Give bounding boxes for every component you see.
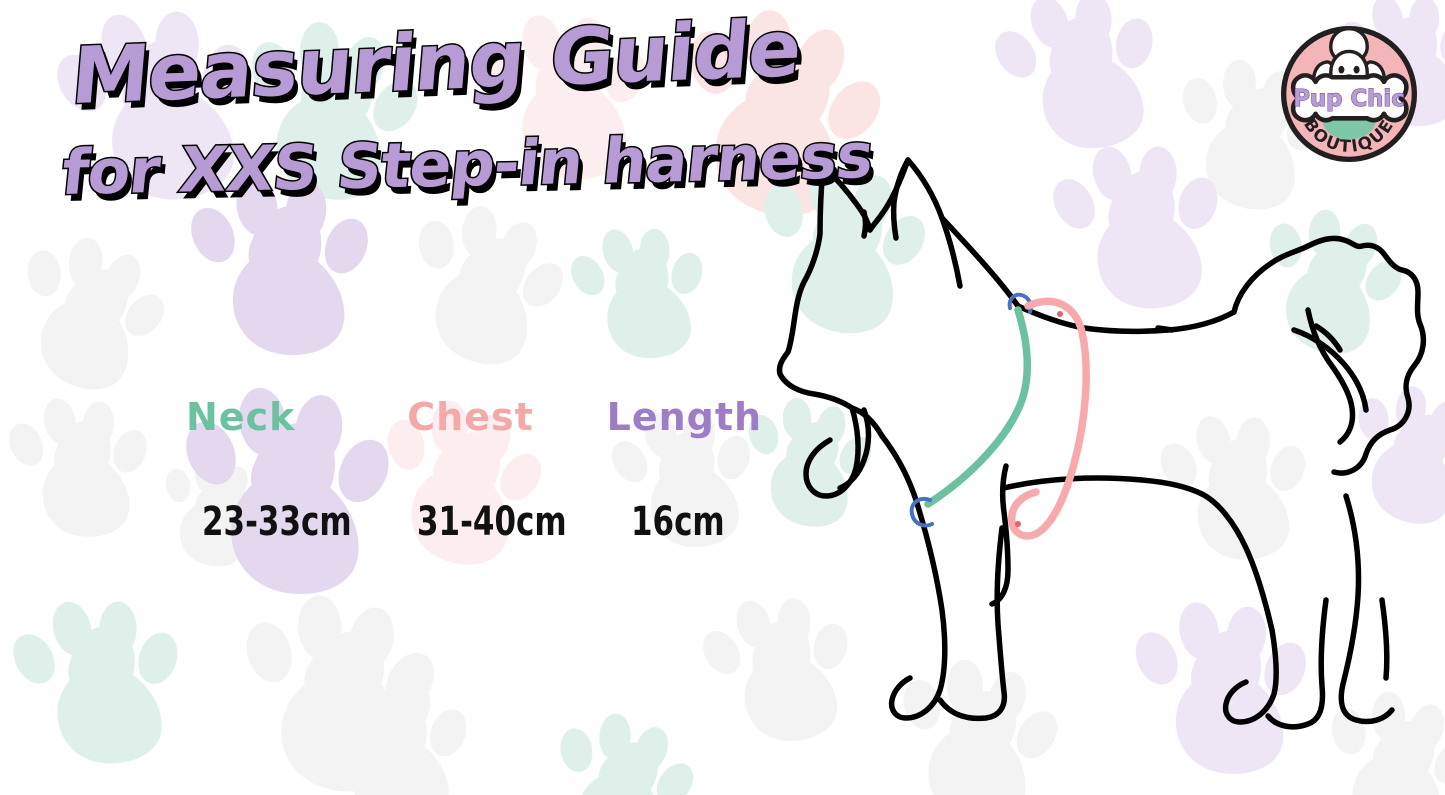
measurement-column-length: Length	[607, 398, 806, 436]
measurement-value-wrap-neck: 23-33cm	[186, 502, 407, 542]
dog-hind-leg-front	[1226, 630, 1277, 722]
chest-measure-end-dot-top	[1057, 311, 1063, 317]
brand-logo-badge[interactable]: Pup Chic BOUTIQUE	[1273, 18, 1425, 170]
measurement-value-wrap-chest: 31-40cm	[407, 502, 606, 542]
dog-head-crown	[870, 160, 908, 230]
measurement-value-neck: 23-33cm	[202, 502, 379, 542]
dog-tail-inner-1	[1308, 310, 1353, 442]
dog-front-leg-back	[940, 528, 1004, 718]
page-title-line-1: Measuring Guide	[69, 11, 781, 116]
neck-measure-line	[928, 310, 1027, 504]
measurement-label-chest: Chest	[407, 398, 606, 436]
measuring-guide-canvas: Measuring Guide for XXS Step-in harness …	[0, 0, 1445, 795]
logo-brand-text: Pup Chic	[1293, 86, 1404, 112]
measurement-column-chest: Chest	[407, 398, 606, 436]
dog-ear-inner-left	[864, 212, 866, 236]
paw-print	[0, 389, 161, 544]
dog-head-outline	[779, 166, 852, 408]
page-title-block: Measuring Guide for XXS Step-in harness	[58, 38, 778, 204]
measurement-labels-row: Neck Chest Length	[186, 398, 806, 436]
dog-front-leg-front	[892, 500, 945, 718]
paw-print	[231, 589, 447, 795]
dog-body-tick	[1158, 328, 1172, 330]
paw-print	[305, 664, 484, 795]
dog-back-mid	[1168, 312, 1234, 330]
dog-ear-inner-right	[908, 160, 960, 286]
measurement-column-neck: Neck	[186, 398, 407, 436]
dog-line-art-illustration	[760, 130, 1445, 780]
measurement-label-neck: Neck	[186, 398, 407, 436]
dog-topline	[1018, 306, 1168, 331]
dog-tail-fluffy	[1234, 238, 1423, 473]
logo-poodle-eye-right	[1354, 66, 1360, 74]
paw-print	[537, 702, 708, 795]
paw-print	[0, 222, 184, 404]
chest-measure-end-dot-bottom	[1015, 521, 1021, 527]
paw-print	[390, 192, 582, 378]
page-title-line-2: for XXS Step-in harness	[59, 127, 781, 204]
dog-tail-inner-2	[1294, 330, 1366, 410]
measurement-table: Neck Chest Length 23-33cm 31-40cm 16cm	[186, 398, 806, 542]
measurement-values-row: 23-33cm 31-40cm 16cm	[186, 502, 806, 542]
paw-print	[559, 213, 722, 371]
measurement-label-length: Length	[607, 398, 806, 436]
measurement-value-length: 16cm	[631, 502, 782, 542]
measurement-value-chest: 31-40cm	[417, 502, 580, 542]
dog-chest-line	[882, 436, 916, 500]
dog-hind-quarter	[1202, 494, 1272, 630]
measurement-value-wrap-length: 16cm	[607, 502, 806, 542]
dog-rear-leg-hock	[1382, 600, 1387, 678]
paw-print	[0, 583, 201, 778]
logo-poodle-eye-left	[1338, 66, 1344, 74]
